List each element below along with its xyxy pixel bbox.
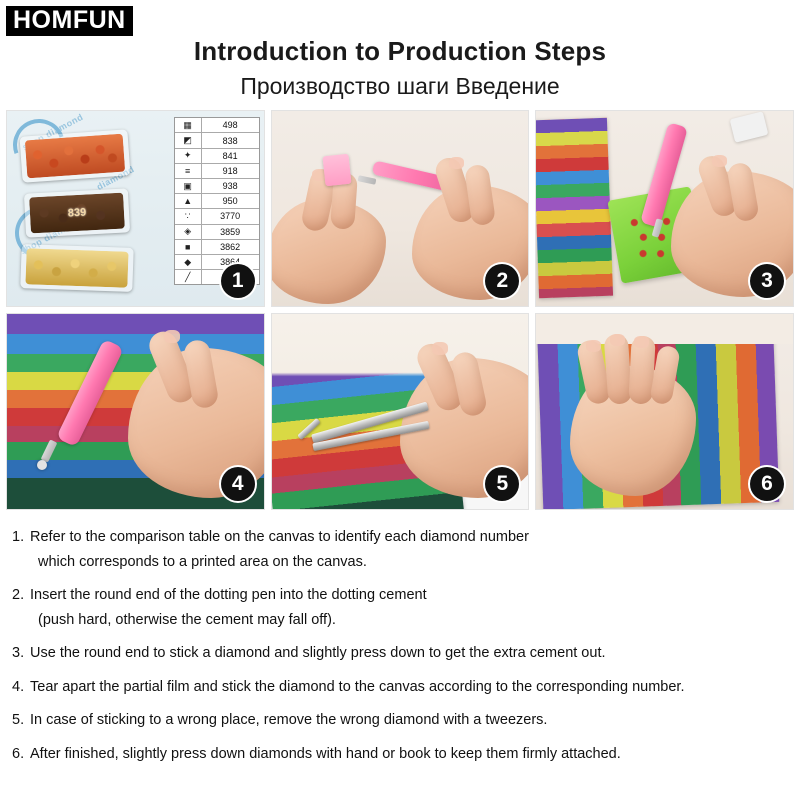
code-cell: 841: [202, 149, 259, 163]
instruction-number: 4.: [12, 676, 30, 700]
step-photo-5: 5: [271, 313, 530, 510]
instruction-text: After finished, slightly press down diam…: [30, 743, 621, 767]
fingernail: [164, 330, 180, 343]
dotting-cement-block: [322, 154, 351, 187]
instruction-number: 6.: [12, 743, 30, 767]
symbol-cell: ▣: [175, 179, 202, 193]
fingernail: [634, 336, 649, 348]
fingernail: [432, 342, 448, 355]
instruction-item-3: 3. Use the round end to stick a diamond …: [12, 642, 788, 666]
instruction-item-2: 2. Insert the round end of the dotting p…: [12, 584, 788, 633]
table-row: ◩838: [175, 133, 259, 148]
fingernail: [712, 155, 727, 167]
symbol-cell: ✦: [175, 149, 202, 163]
table-row: ■3862: [175, 240, 259, 255]
instruction-text: Insert the round end of the dotting pen …: [30, 584, 427, 633]
instruction-item-6: 6. After finished, slightly press down d…: [12, 743, 788, 767]
step-photo-3: 3: [535, 110, 794, 307]
bead-bag: 839: [24, 189, 130, 238]
instruction-line: Insert the round end of the dotting pen …: [30, 584, 427, 606]
step-number-badge-6: 6: [750, 467, 784, 501]
table-surface-top: [536, 314, 793, 344]
instruction-item-4: 4. Tear apart the partial film and stick…: [12, 676, 788, 700]
bead-bag: [20, 130, 131, 183]
symbol-cell: ◆: [175, 255, 202, 269]
instruction-number: 3.: [12, 642, 30, 666]
instruction-line: (push hard, otherwise the cement may fal…: [30, 609, 427, 631]
symbol-cell: ▦: [175, 118, 202, 132]
fingernail: [586, 340, 601, 352]
brand-bar: HOMFUN: [0, 0, 800, 36]
bead-bag: [20, 244, 133, 292]
homfun-logo: HOMFUN: [6, 6, 133, 36]
page-title-english: Introduction to Production Steps: [0, 36, 800, 67]
instruction-item-1: 1. Refer to the comparison table on the …: [12, 526, 788, 575]
symbol-cell: ◈: [175, 225, 202, 239]
code-cell: 3862: [202, 240, 259, 254]
instruction-number: 2.: [12, 584, 30, 633]
bag-code-label: 839: [68, 207, 87, 220]
code-cell: 3859: [202, 225, 259, 239]
instruction-text: Tear apart the partial film and stick th…: [30, 676, 684, 700]
table-row: ≡918: [175, 164, 259, 179]
symbol-cell: ▲: [175, 194, 202, 208]
fingernail: [610, 334, 625, 346]
page-title-russian: Производство шаги Введение: [0, 73, 800, 100]
instruction-text: In case of sticking to a wrong place, re…: [30, 709, 547, 733]
instructions-list: 1. Refer to the comparison table on the …: [12, 526, 788, 767]
step-photo-2: 2: [271, 110, 530, 307]
code-cell: 3770: [202, 209, 259, 223]
step-photo-6: 6: [535, 313, 794, 510]
instruction-line: In case of sticking to a wrong place, re…: [30, 709, 547, 731]
instruction-text: Refer to the comparison table on the can…: [30, 526, 529, 575]
instruction-line: Refer to the comparison table on the can…: [30, 526, 529, 548]
table-row: ▣938: [175, 179, 259, 194]
symbol-cell: ∵: [175, 209, 202, 223]
code-cell: 838: [202, 133, 259, 147]
table-row: ▲950: [175, 194, 259, 209]
code-cell: 950: [202, 194, 259, 208]
code-cell: 938: [202, 179, 259, 193]
symbol-cell: ◩: [175, 133, 202, 147]
instruction-number: 1.: [12, 526, 30, 575]
symbol-cell: ≡: [175, 164, 202, 178]
instruction-line: Use the round end to stick a diamond and…: [30, 642, 606, 664]
table-row: ◈3859: [175, 225, 259, 240]
instruction-item-5: 5. In case of sticking to a wrong place,…: [12, 709, 788, 733]
step-photo-1: shop diamond shop diamond diamond 839 ▦4…: [6, 110, 265, 307]
instruction-line: which corresponds to a printed area on t…: [30, 551, 529, 573]
instruction-line: Tear apart the partial film and stick th…: [30, 676, 684, 698]
instruction-number: 5.: [12, 709, 30, 733]
step-photo-4: 4: [6, 313, 265, 510]
symbol-cell: ╱: [175, 270, 202, 284]
instruction-sheet: HOMFUN Introduction to Production Steps …: [0, 0, 800, 800]
fingernail: [449, 157, 464, 169]
title-block: Introduction to Production Steps Произво…: [0, 36, 800, 100]
step-number-badge-3: 3: [750, 264, 784, 298]
striped-canvas: [535, 118, 613, 298]
table-row: ✦841: [175, 149, 259, 164]
table-row: ∵3770: [175, 209, 259, 224]
table-row: ▦498: [175, 118, 259, 133]
step-number-badge-4: 4: [221, 467, 255, 501]
color-code-table: ▦498 ◩838 ✦841 ≡918 ▣938 ▲950 ∵3770 ◈385…: [174, 117, 260, 285]
steps-grid: shop diamond shop diamond diamond 839 ▦4…: [6, 110, 794, 510]
code-cell: 498: [202, 118, 259, 132]
symbol-cell: ■: [175, 240, 202, 254]
code-cell: 918: [202, 164, 259, 178]
instruction-text: Use the round end to stick a diamond and…: [30, 642, 606, 666]
step-number-badge-1: 1: [221, 264, 255, 298]
instruction-line: After finished, slightly press down diam…: [30, 743, 621, 765]
